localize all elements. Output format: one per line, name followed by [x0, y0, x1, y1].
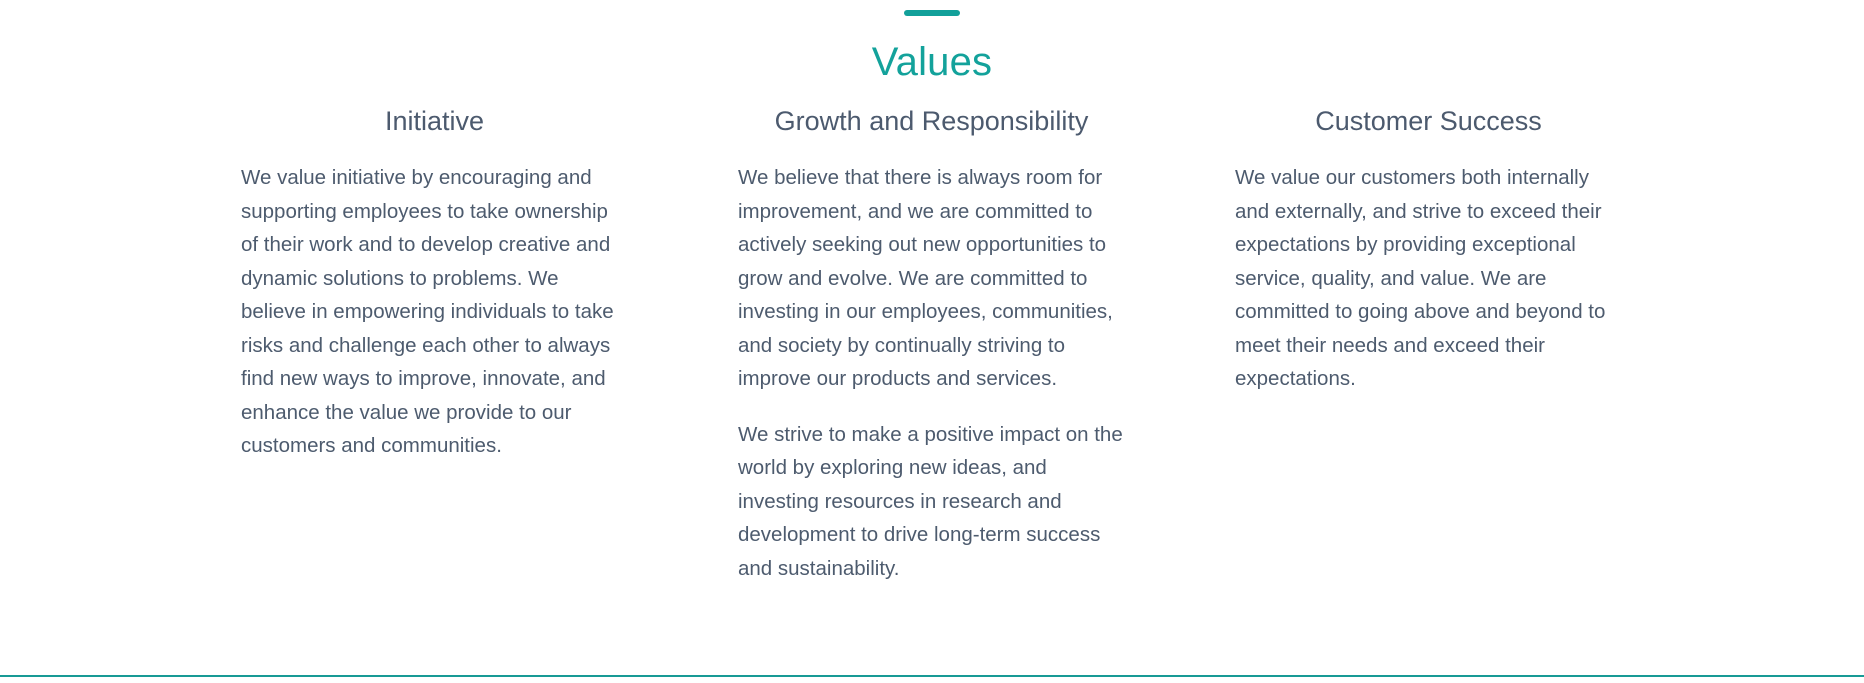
- values-columns: Initiative We value initiative by encour…: [0, 104, 1864, 585]
- column-body-initiative: We value initiative by encouraging and s…: [241, 161, 628, 463]
- paragraph: We strive to make a positive impact on t…: [738, 418, 1125, 586]
- page-title: Values: [0, 38, 1864, 86]
- values-section: Values Initiative We value initiative by…: [0, 0, 1864, 683]
- value-column-growth-and-responsibility: Growth and Responsibility We believe tha…: [683, 104, 1180, 585]
- value-column-customer-success: Customer Success We value our customers …: [1180, 104, 1677, 585]
- paragraph: We value initiative by encouraging and s…: [241, 161, 628, 463]
- column-body-growth-and-responsibility: We believe that there is always room for…: [738, 161, 1125, 585]
- column-title-growth-and-responsibility: Growth and Responsibility: [738, 104, 1125, 139]
- paragraph: We value our customers both internally a…: [1235, 161, 1622, 396]
- column-body-customer-success: We value our customers both internally a…: [1235, 161, 1622, 396]
- footer-divider: [0, 675, 1864, 677]
- column-title-initiative: Initiative: [241, 104, 628, 139]
- column-title-customer-success: Customer Success: [1235, 104, 1622, 139]
- paragraph: We believe that there is always room for…: [738, 161, 1125, 396]
- section-accent-bar: [904, 10, 960, 16]
- value-column-initiative: Initiative We value initiative by encour…: [186, 104, 683, 585]
